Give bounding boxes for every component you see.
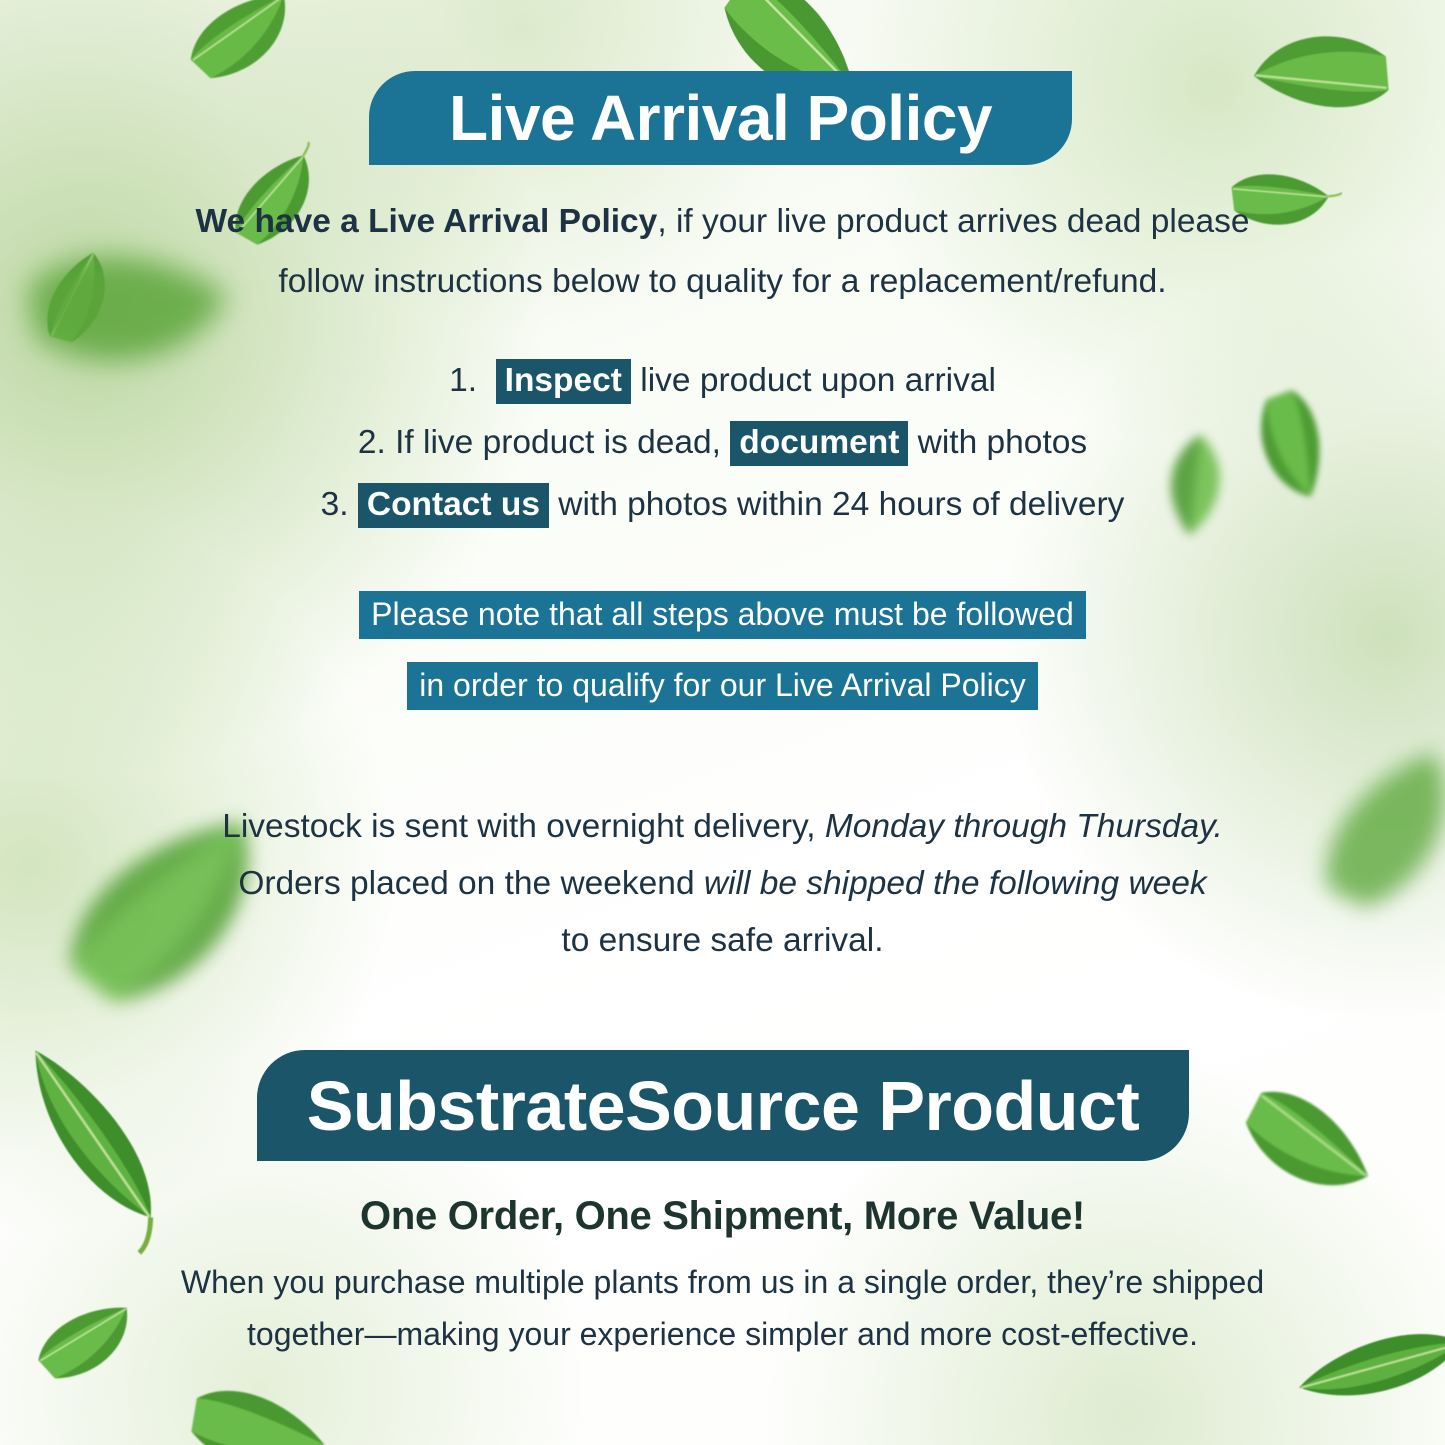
policy-note-text-1: Please note that all steps above must be… — [359, 591, 1086, 639]
policy-note-line-2: in order to qualify for our Live Arrival… — [407, 653, 1037, 724]
shipping-schedule-paragraph: Livestock is sent with overnight deliver… — [160, 798, 1285, 969]
step-number: 2. — [358, 424, 386, 461]
policy-note-line-1: Please note that all steps above must be… — [359, 582, 1086, 653]
step-after-text: live product upon arrival — [631, 362, 996, 399]
step-before-text — [349, 486, 358, 523]
step-highlight-inspect[interactable]: Inspect — [496, 359, 631, 404]
shipping-text-3: to ensure safe arrival. — [561, 922, 883, 959]
shipping-italic-1: Monday through Thursday. — [825, 808, 1223, 845]
step-after-text: with photos — [908, 424, 1087, 461]
substratesource-product-banner: SubstrateSource Product — [257, 1050, 1189, 1161]
intro-bold-text: We have a Live Arrival Policy — [196, 203, 658, 240]
step-number: 3. — [321, 486, 349, 523]
policy-page: Live Arrival Policy We have a Live Arriv… — [0, 0, 1445, 1445]
step-highlight-contact-us[interactable]: Contact us — [358, 483, 549, 528]
live-arrival-policy-banner: Live Arrival Policy — [369, 71, 1072, 165]
shipping-text-2: Orders placed on the weekend — [238, 865, 704, 902]
bundle-shipping-paragraph: When you purchase multiple plants from u… — [150, 1256, 1295, 1360]
policy-note-block: Please note that all steps above must be… — [160, 582, 1285, 724]
intro-paragraph: We have a Live Arrival Policy, if your l… — [160, 192, 1285, 312]
bundle-text-line-2: together—making your experience simpler … — [247, 1316, 1198, 1352]
step-highlight-document[interactable]: document — [730, 421, 908, 466]
step-after-text: with photos within 24 hours of delivery — [549, 486, 1124, 523]
step-before-text: If live product is dead, — [386, 424, 731, 461]
shipping-italic-2: will be shipped the following week — [704, 865, 1207, 902]
value-proposition-heading: One Order, One Shipment, More Value! — [160, 1194, 1285, 1239]
shipping-text-1: Livestock is sent with overnight deliver… — [222, 808, 825, 845]
bundle-text-line-1: When you purchase multiple plants from u… — [181, 1264, 1264, 1300]
step-item-2: 2. If live product is dead, document wit… — [160, 412, 1285, 474]
policy-note-text-2: in order to qualify for our Live Arrival… — [407, 662, 1037, 710]
step-number: 1. — [449, 362, 477, 399]
step-item-1: 1. Inspect live product upon arrival — [160, 350, 1285, 412]
step-item-3: 3. Contact us with photos within 24 hour… — [160, 474, 1285, 536]
steps-list: 1. Inspect live product upon arrival 2. … — [160, 350, 1285, 536]
